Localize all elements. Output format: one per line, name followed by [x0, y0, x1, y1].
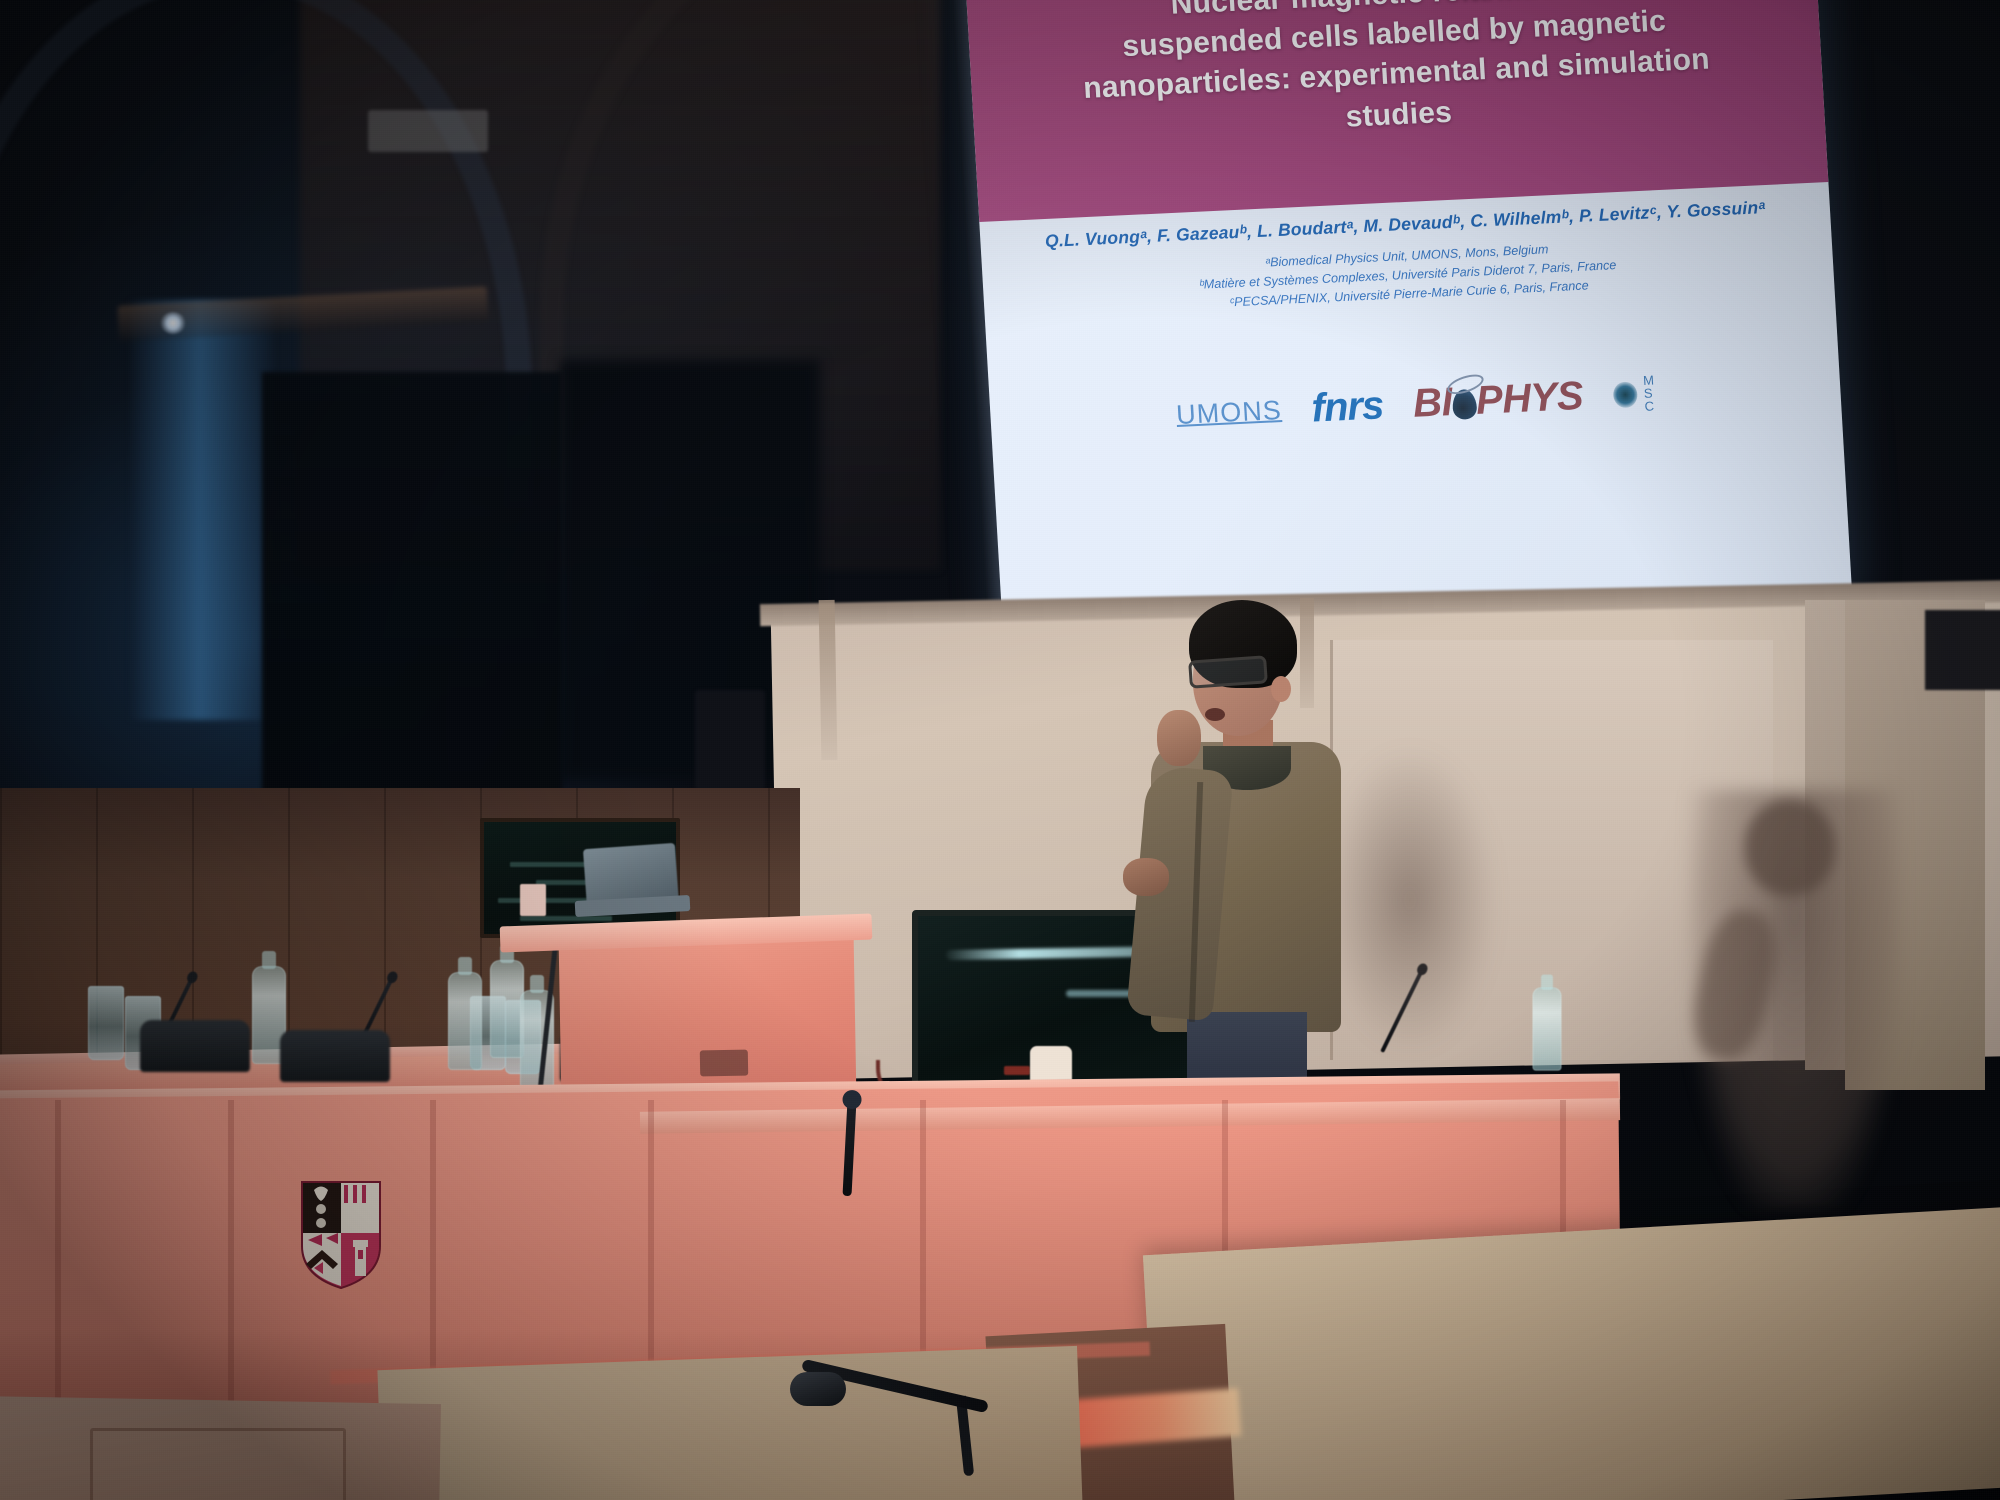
chair-back-1	[140, 1020, 250, 1072]
water-bottle-3	[490, 960, 524, 1058]
glasses-icon	[1188, 655, 1268, 688]
loudspeaker	[695, 690, 765, 790]
foreground-desk-centre	[377, 1346, 1082, 1500]
sign-line-4	[520, 916, 612, 921]
msc-logo: M S C	[1612, 373, 1656, 415]
umons-logo: UMONS	[1175, 395, 1282, 431]
cast-shadow-head	[1745, 800, 1835, 896]
presenter-hand-lower	[1123, 858, 1169, 896]
msc-dot-icon	[1612, 381, 1637, 408]
wall-plaque	[368, 110, 488, 152]
droplet-icon	[1451, 389, 1477, 420]
presenter-shadow	[1325, 750, 1495, 1050]
chair-back-2	[280, 1030, 390, 1082]
university-crest	[300, 1180, 382, 1290]
foreground-microphone-head	[790, 1372, 846, 1406]
projection-screen: Nuclear magnetic relaxation of suspended…	[957, 0, 1852, 641]
presenter-mouth	[1205, 708, 1225, 721]
umons-logo-label: UMONS	[1175, 395, 1282, 430]
presenter	[1165, 600, 1345, 1090]
biophys-logo-suffix: PHYS	[1475, 374, 1584, 423]
water-bottle-2	[448, 972, 482, 1070]
monitor-power-led	[1004, 1066, 1030, 1075]
biophys-logo: BIPHYS	[1412, 374, 1584, 427]
msc-letter-c: C	[1644, 400, 1656, 414]
drinking-glass-1	[88, 986, 124, 1060]
foreground-drawer[interactable]	[90, 1428, 346, 1500]
lectern-slot	[700, 1050, 748, 1077]
wall-strut-left	[819, 600, 838, 760]
paper-card	[520, 884, 546, 916]
presenter-ear	[1271, 676, 1291, 702]
lit-column	[130, 300, 275, 720]
spotlight-icon	[160, 312, 186, 334]
msc-logo-text: M S C	[1643, 373, 1656, 413]
photograph-scene: Nuclear magnetic relaxation of suspended…	[0, 0, 2000, 1500]
water-bottle-5	[1533, 987, 1562, 1070]
foreground-desk-right	[1143, 1205, 2000, 1500]
dark-wall-panel-left	[262, 372, 562, 792]
wall-dark-box	[1925, 610, 2000, 690]
fnrs-logo: fnrs	[1310, 383, 1384, 431]
slide-logo-row: UMONS fnrs BIPHYS M S C	[990, 362, 1842, 447]
presenter-hand-raised	[1157, 710, 1201, 766]
